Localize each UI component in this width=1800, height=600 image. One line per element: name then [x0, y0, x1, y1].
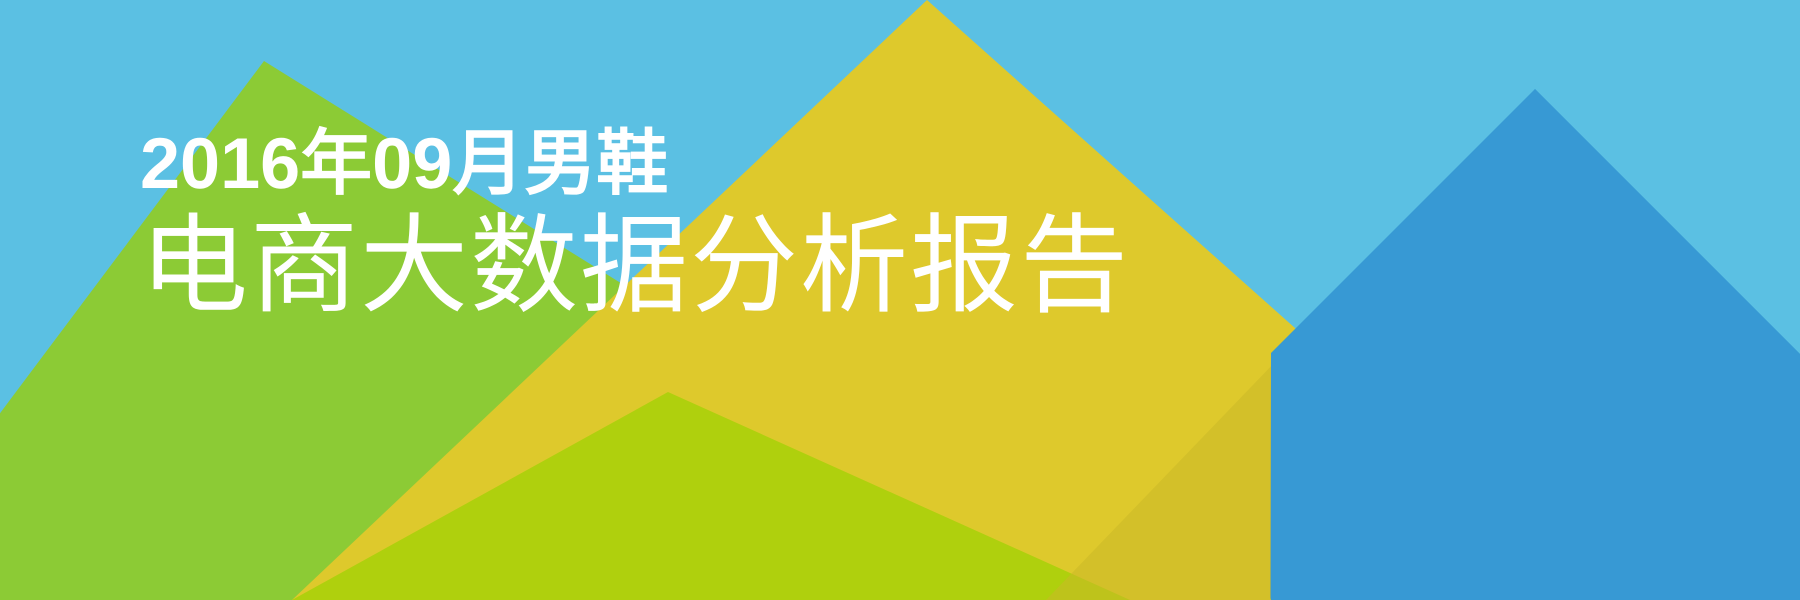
title-block: 2016年09月男鞋 电商大数据分析报告: [140, 128, 1130, 320]
page-title-primary: 2016年09月男鞋: [140, 128, 1130, 200]
title-banner: 2016年09月男鞋 电商大数据分析报告: [0, 0, 1800, 600]
page-title-secondary: 电商大数据分析报告: [140, 212, 1130, 320]
